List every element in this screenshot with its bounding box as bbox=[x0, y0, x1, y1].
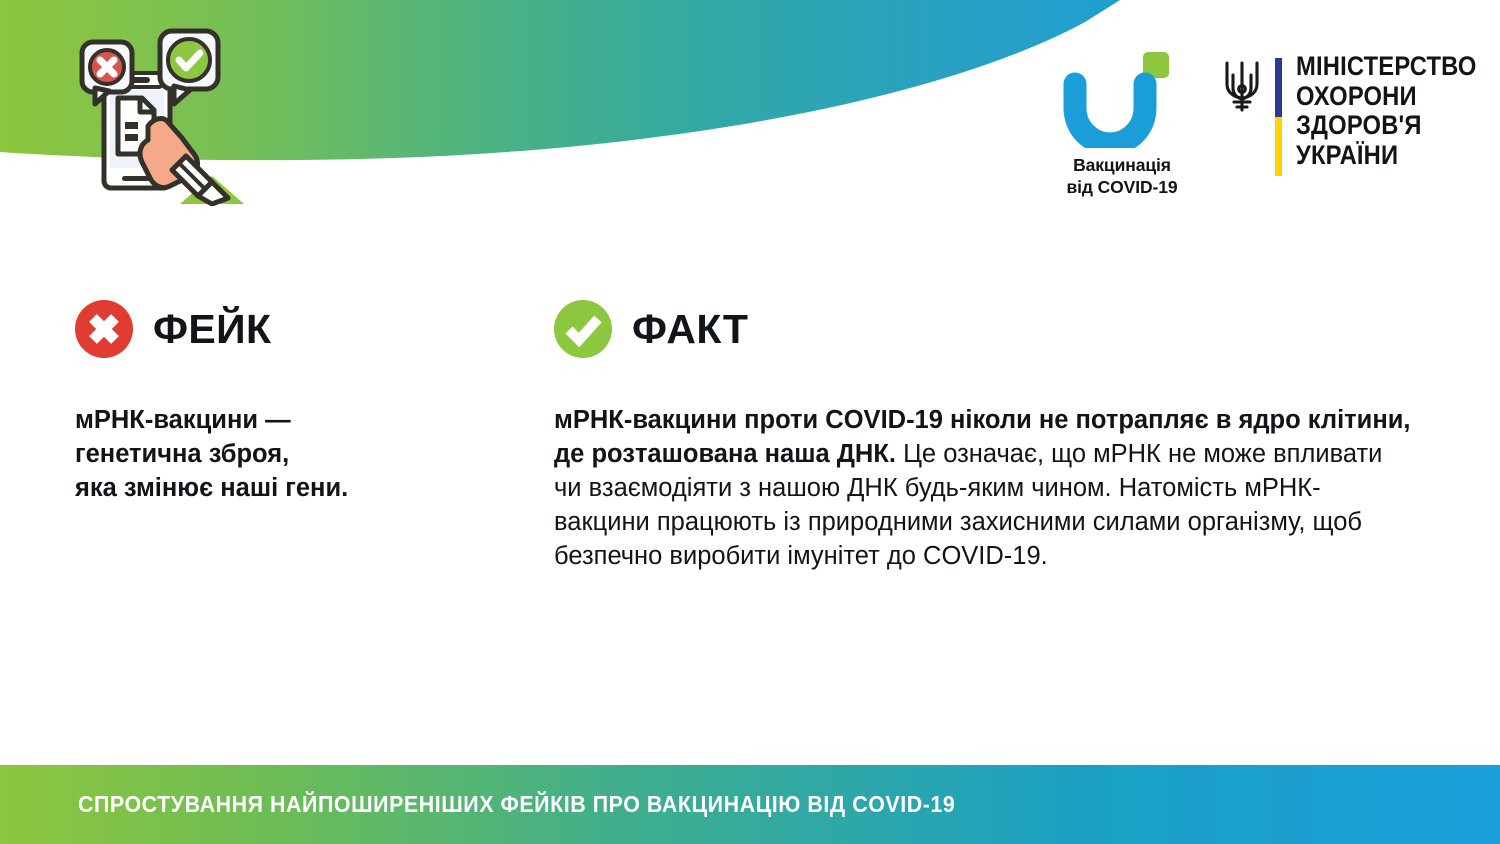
logo-block: Вакцинація від COVID-19 МІНІСТЕРСТ bbox=[1063, 52, 1463, 192]
footer-banner-text: СПРОСТУВАННЯ НАЙПОШИРЕНІШИХ ФЕЙКІВ ПРО В… bbox=[78, 791, 955, 818]
fact-label: ФАКТ bbox=[632, 309, 748, 350]
ukraine-trident-emblem bbox=[1221, 58, 1263, 114]
fake-text-line-2: генетична зброя, bbox=[75, 438, 505, 472]
fact-column: ФАКТ мРНК-вакцини проти COVID-19 ніколи … bbox=[554, 300, 1414, 574]
footer-banner: СПРОСТУВАННЯ НАЙПОШИРЕНІШИХ ФЕЙКІВ ПРО В… bbox=[0, 765, 1500, 844]
fake-heading: ФЕЙК bbox=[75, 300, 505, 358]
slide-canvas: Вакцинація від COVID-19 МІНІСТЕРСТ bbox=[0, 0, 1500, 844]
fake-label: ФЕЙК bbox=[153, 309, 271, 350]
cross-circle-icon bbox=[75, 300, 133, 358]
vaccination-v-logo bbox=[1063, 52, 1181, 148]
fake-text-line-1: мРНК-вакцини — bbox=[75, 404, 505, 438]
vaccination-logo-caption: Вакцинація від COVID-19 bbox=[1066, 155, 1177, 199]
ministry-line-3: ЗДОРОВ'Я bbox=[1296, 111, 1477, 141]
ministry-of-health-logo: МІНІСТЕРСТВО ОХОРОНИ ЗДОРОВ'Я УКРАЇНИ bbox=[1221, 52, 1500, 176]
ministry-name: МІНІСТЕРСТВО ОХОРОНИ ЗДОРОВ'Я УКРАЇНИ bbox=[1296, 52, 1477, 171]
vaccination-logo-line1: Вакцинація bbox=[1066, 155, 1177, 177]
ministry-line-1: МІНІСТЕРСТВО bbox=[1296, 52, 1477, 82]
check-circle-icon bbox=[554, 300, 612, 358]
fact-text: мРНК-вакцини проти COVID-19 ніколи не по… bbox=[554, 404, 1414, 574]
vaccination-logo: Вакцинація від COVID-19 bbox=[1063, 52, 1181, 199]
ministry-line-2: ОХОРОНИ bbox=[1296, 82, 1477, 112]
fake-text: мРНК-вакцини — генетична зброя, яка змін… bbox=[75, 404, 505, 506]
fact-heading: ФАКТ bbox=[554, 300, 1414, 358]
flag-divider-bar bbox=[1275, 58, 1282, 176]
fake-text-line-3: яка змінює наші гени. bbox=[75, 472, 505, 506]
ministry-line-4: УКРАЇНИ bbox=[1296, 141, 1477, 171]
fake-vs-fact-phone-illustration bbox=[62, 26, 262, 206]
fake-column: ФЕЙК мРНК-вакцини — генетична зброя, яка… bbox=[75, 300, 505, 506]
vaccination-logo-line2: від COVID-19 bbox=[1066, 177, 1177, 199]
